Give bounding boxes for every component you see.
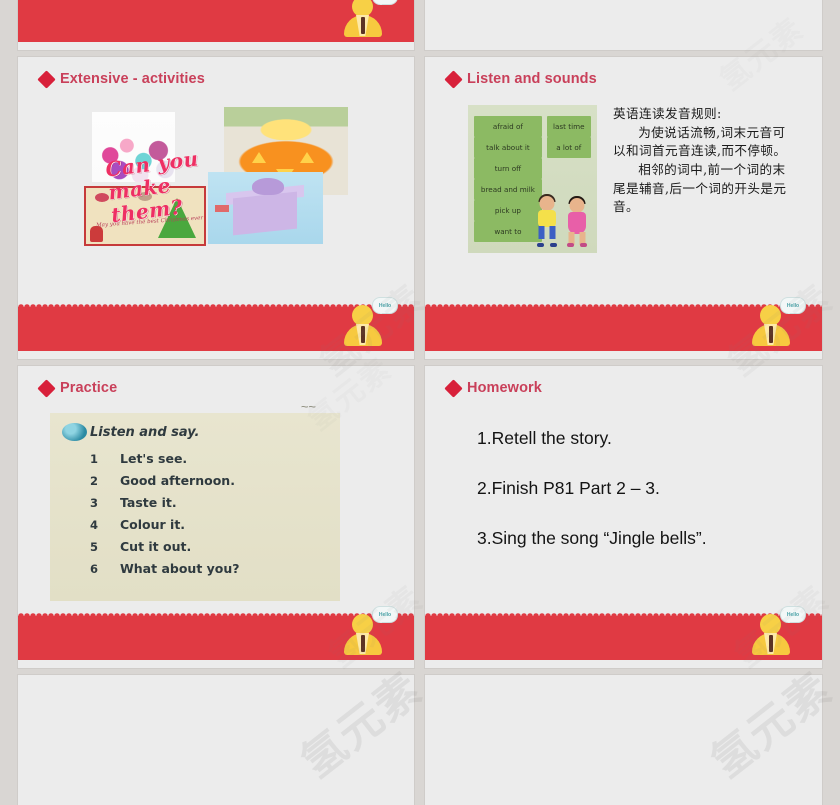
linking-word-cell: a lot of — [547, 137, 591, 158]
slide-title-label: Practice — [60, 380, 117, 396]
homework-list: 1.Retell the story. 2.Finish P81 Part 2 … — [477, 428, 707, 578]
diamond-bullet-icon — [444, 70, 462, 88]
cn-line-3: 相邻的词中,前一个词的末尾是辅音,后一个词的开头是元音。 — [613, 161, 788, 217]
audio-dot-icon — [62, 423, 87, 441]
list-item: 3.Sing the song “Jingle bells”. — [477, 528, 707, 549]
linking-word-cell: afraid of — [474, 116, 542, 137]
slide-title-extensive-activities: Extensive - activities — [40, 71, 205, 87]
practice-sentence-list: 1 Let's see. 2 Good afternoon. 3 Taste i… — [90, 451, 240, 583]
hello-bubble: Hello — [372, 297, 398, 314]
pencil-mark-icon: ~~ — [301, 399, 316, 414]
list-item: 4 Colour it. — [90, 517, 240, 532]
list-item: 1.Retell the story. — [477, 428, 707, 449]
avatar-tie-icon — [361, 635, 365, 652]
slide-fragment-top[interactable]: it inside your orange Hello — [18, 0, 414, 50]
avatar-head-icon — [760, 614, 781, 635]
presenter-avatar: Hello — [342, 0, 398, 42]
slide-title-listen-and-sounds: Listen and sounds — [447, 71, 597, 87]
two-children-illustration — [535, 186, 589, 244]
list-item: 1 Let's see. — [90, 451, 240, 466]
avatar-head-icon — [352, 305, 373, 326]
diamond-bullet-icon — [37, 379, 55, 397]
slide-title-homework: Homework — [447, 380, 542, 396]
chinese-linking-rule-note: 英语连读发音规则: 为使说话流畅,词末元音可以和词首元音连读,而不停顿。 相邻的… — [613, 105, 788, 217]
list-item: 2.Finish P81 Part 2 – 3. — [477, 478, 707, 499]
hello-bubble: Hello — [372, 606, 398, 623]
linking-word-cell: want to — [474, 221, 542, 242]
practice-book-photo: Listen and say. ~~ 1 Let's see. 2 Good a… — [50, 413, 340, 601]
bow-icon — [95, 193, 109, 202]
slide-fragment-bottom-left[interactable] — [18, 675, 414, 805]
avatar-tie-icon — [361, 326, 365, 343]
slide-title-label: Extensive - activities — [60, 71, 205, 87]
avatar-head-icon — [352, 614, 373, 635]
linking-word-cell: turn off — [474, 158, 542, 179]
slide-extensive-activities[interactable]: Extensive - activities May you have the … — [18, 57, 414, 359]
avatar-tie-icon — [769, 326, 773, 343]
hello-bubble: Hello — [780, 606, 806, 623]
linking-word-cell: last time — [547, 116, 591, 137]
slide-listen-and-sounds[interactable]: Listen and sounds afraid of last time ta… — [425, 57, 822, 359]
presenter-avatar: Hello — [750, 606, 806, 660]
slide-practice[interactable]: Practice Listen and say. ~~ 1 Let's see.… — [18, 366, 414, 668]
presenter-avatar: Hello — [750, 297, 806, 351]
list-item: 2 Good afternoon. — [90, 473, 240, 488]
slide-deck: it inside your orange Hello Extensive - … — [0, 0, 840, 788]
avatar-tie-icon — [361, 17, 365, 34]
linking-word-cell: pick up — [474, 200, 542, 221]
hello-bubble: Hello — [780, 297, 806, 314]
list-item: 3 Taste it. — [90, 495, 240, 510]
presenter-avatar: Hello — [342, 297, 398, 351]
slide-title-label: Homework — [467, 380, 542, 396]
slide-title-practice: Practice — [40, 380, 117, 396]
cn-line-2: 为使说话流畅,词末元音可以和词首元音连读,而不停顿。 — [613, 124, 788, 161]
list-item: 6 What about you? — [90, 561, 240, 576]
cn-line-1: 英语连读发音规则: — [613, 105, 788, 124]
diamond-bullet-icon — [37, 70, 55, 88]
slide-fragment-bottom-right[interactable] — [425, 675, 822, 805]
slide-homework[interactable]: Homework 1.Retell the story. 2.Finish P8… — [425, 366, 822, 668]
slide-title-label: Listen and sounds — [467, 71, 597, 87]
slide-fragment-top-right[interactable] — [425, 0, 822, 50]
avatar-head-icon — [760, 305, 781, 326]
linking-word-cell: bread and milk — [474, 179, 542, 200]
presenter-avatar: Hello — [342, 606, 398, 660]
hello-bubble: Hello — [372, 0, 398, 5]
diamond-bullet-icon — [444, 379, 462, 397]
avatar-tie-icon — [769, 635, 773, 652]
practice-heading: Listen and say. — [90, 425, 199, 440]
linking-words-photo: afraid of last time talk about it a lot … — [468, 105, 597, 253]
list-item: 5 Cut it out. — [90, 539, 240, 554]
linking-word-cell: talk about it — [474, 137, 542, 158]
